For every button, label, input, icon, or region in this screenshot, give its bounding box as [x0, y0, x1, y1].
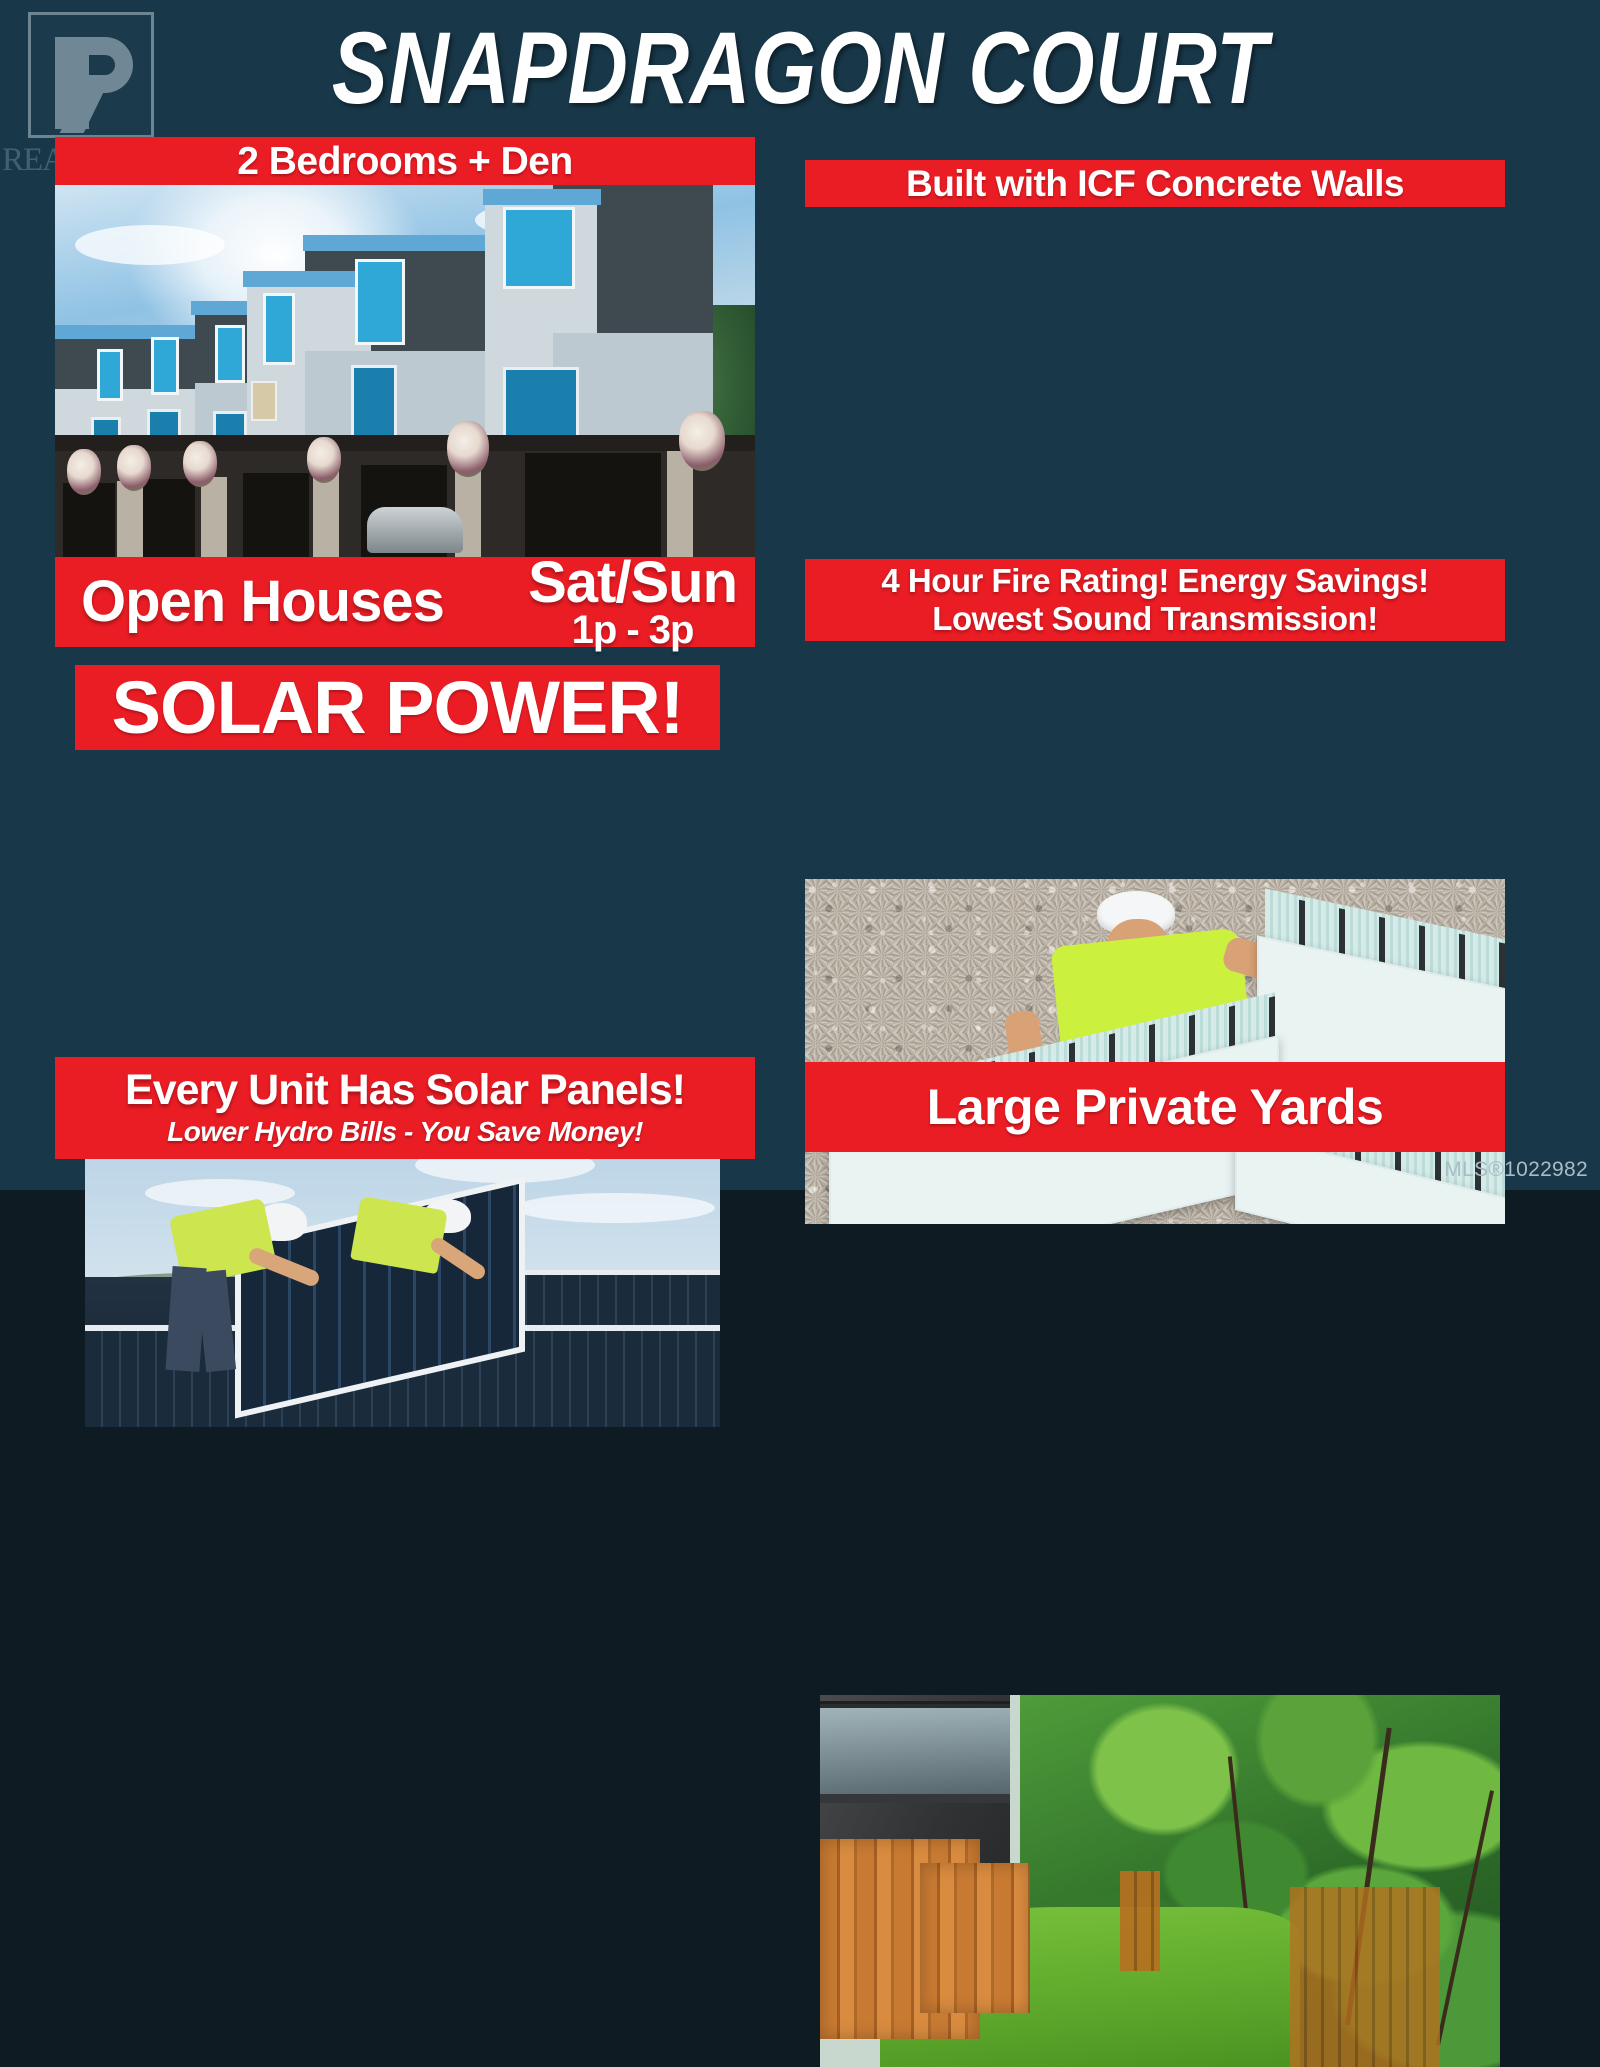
garage-door: [63, 483, 115, 557]
cloud: [75, 225, 225, 265]
realtor-logo-icon: [28, 12, 154, 138]
garage-door: [243, 473, 309, 557]
glass-balcony: [820, 1703, 1010, 1803]
cloud: [515, 1193, 715, 1223]
decorative-panel: [251, 381, 277, 421]
awning: [55, 435, 755, 451]
cedar-fence: [1290, 1887, 1440, 2067]
flower-basket: [447, 421, 489, 477]
window: [151, 337, 179, 395]
pillar: [201, 477, 227, 557]
solar-caption-banner: Every Unit Has Solar Panels! Lower Hydro…: [55, 1057, 755, 1159]
open-house-label: Open Houses: [81, 573, 444, 631]
bedrooms-banner: 2 Bedrooms + Den: [55, 137, 755, 185]
window: [263, 293, 295, 365]
open-house-days: Sat/Sun: [528, 555, 737, 610]
mls-number: MLS®1022982: [1444, 1158, 1588, 1182]
icf-caption-banner: 4 Hour Fire Rating! Energy Savings! Lowe…: [805, 559, 1505, 641]
window: [503, 207, 575, 289]
window: [97, 349, 123, 401]
open-house-time: 1p - 3p: [528, 611, 737, 649]
window: [215, 325, 245, 383]
solar-caption-line1: Every Unit Has Solar Panels!: [125, 1068, 685, 1113]
parked-car: [367, 507, 463, 553]
icf-caption-line2: Lowest Sound Transmission!: [932, 600, 1377, 638]
icf-banner: Built with ICF Concrete Walls: [805, 160, 1505, 207]
cloud: [145, 1179, 295, 1207]
cedar-fence: [1120, 1871, 1160, 1971]
flower-basket: [183, 441, 217, 487]
private-yard-photo: [820, 1695, 1500, 2067]
garage-door: [141, 479, 195, 557]
pillar: [117, 481, 143, 557]
window: [503, 367, 579, 439]
yards-banner: Large Private Yards: [805, 1062, 1505, 1152]
solar-caption-line2: Lower Hydro Bills - You Save Money!: [167, 1116, 643, 1148]
flower-basket: [307, 437, 341, 483]
page-title: SNAPDRAGON COURT: [144, 8, 1456, 128]
roof-cap: [483, 189, 601, 205]
solar-power-banner: SOLAR POWER!: [75, 665, 720, 750]
townhouse-photo: [55, 185, 755, 557]
open-house-banner: Open Houses Sat/Sun 1p - 3p: [55, 557, 755, 647]
roof-cap: [55, 325, 205, 339]
icf-construction-photo: [805, 879, 1505, 1224]
flower-basket: [67, 449, 101, 495]
flower-basket: [117, 445, 151, 491]
flower-basket: [679, 411, 725, 471]
window: [351, 365, 397, 439]
window: [355, 259, 405, 345]
pillar: [667, 451, 693, 557]
balcony-railing: [820, 1701, 1010, 1704]
solar-install-photo: [85, 1127, 720, 1427]
cedar-fence: [920, 1863, 1030, 2013]
icf-caption-line1: 4 Hour Fire Rating! Energy Savings!: [881, 562, 1428, 600]
open-house-schedule: Sat/Sun 1p - 3p: [528, 555, 737, 648]
garage-door: [525, 453, 661, 557]
